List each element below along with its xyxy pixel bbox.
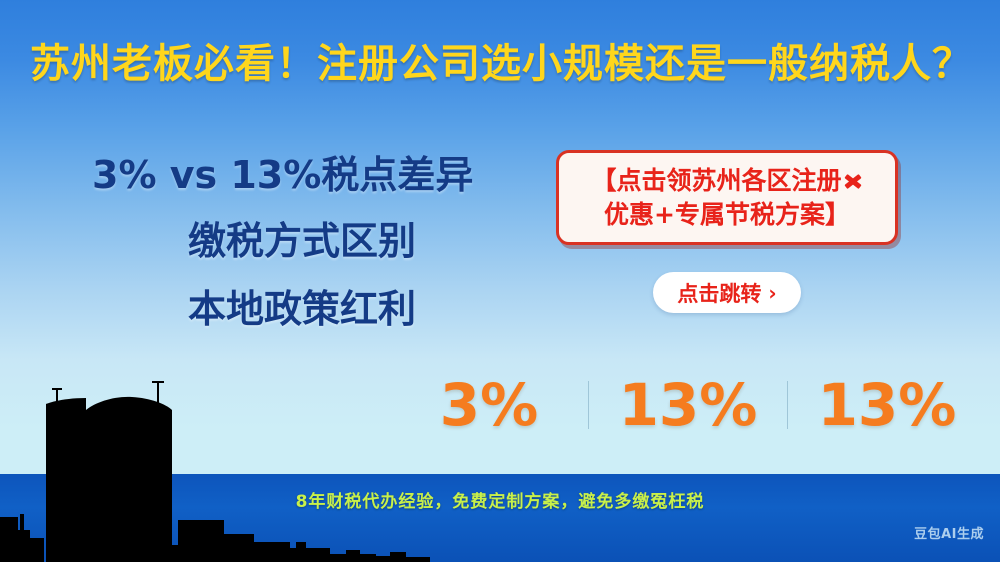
cta-line-2: 优惠+专属节税方案】 (604, 198, 850, 232)
cta-line-1-text: 【点击领苏州各区注册 (591, 166, 841, 195)
benefit-item-local-policy: 本地政策红利 (92, 286, 512, 332)
footer-tagline: 8年财税代办经验，免费定制方案，避免多缴冤枉税 (0, 487, 1000, 512)
benefit-item-tax-rate-difference: 3% vs 13%税点差异 (92, 152, 512, 198)
tax-rate-value-small-scale: 3% (390, 373, 588, 437)
chevron-right-icon: › (768, 283, 776, 303)
jump-button[interactable]: 点击跳转 › (653, 272, 801, 313)
benefit-item-payment-method: 缴税方式区别 (92, 218, 512, 264)
page-title: 苏州老板必看！注册公司选小规模还是一般纳税人？ (30, 31, 973, 89)
tax-rate-value-general-2: 13% (788, 373, 986, 437)
cta-line-1: 【点击领苏州各区注册 (591, 164, 862, 198)
benefit-list: 3% vs 13%税点差异 缴税方式区别 本地政策红利 (92, 152, 512, 332)
tax-rate-comparison: 3% 13% 13% (390, 370, 986, 440)
cta-card[interactable]: 【点击领苏州各区注册 优惠+专属节税方案】 (556, 150, 898, 245)
ai-watermark: 豆包AI生成 (914, 523, 984, 542)
tax-rate-value-general-1: 13% (589, 373, 787, 437)
jump-button-label: 点击跳转 (677, 278, 761, 308)
cursor-x-mark-icon (843, 171, 863, 191)
poster-canvas: 苏州老板必看！注册公司选小规模还是一般纳税人？ 3% vs 13%税点差异 缴税… (0, 0, 1000, 562)
